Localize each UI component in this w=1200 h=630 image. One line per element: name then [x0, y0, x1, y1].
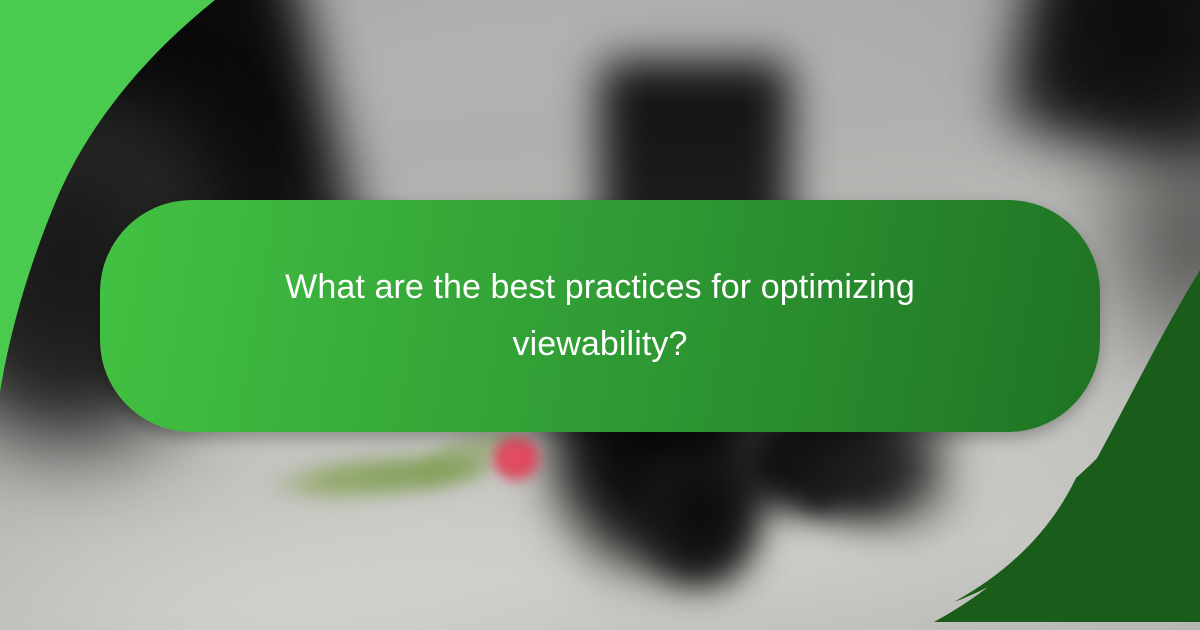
screenshot-canvas: What are the best practices for optimizi…: [0, 0, 1200, 630]
question-card[interactable]: What are the best practices for optimizi…: [100, 200, 1100, 432]
question-text: What are the best practices for optimizi…: [244, 259, 956, 373]
